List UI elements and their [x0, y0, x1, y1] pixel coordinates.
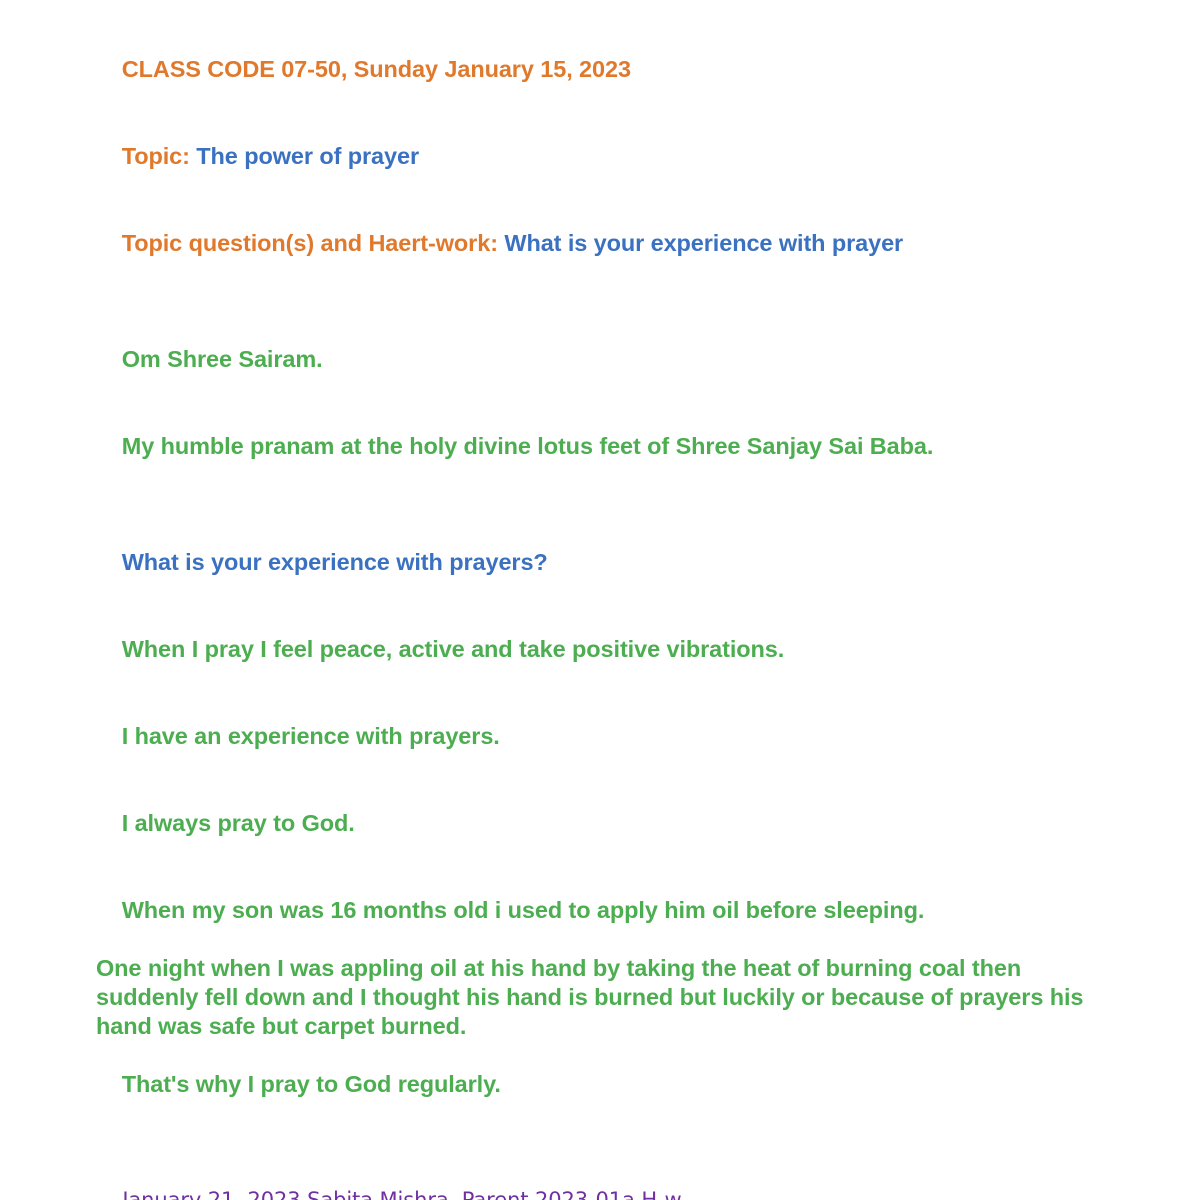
answer-text-6: That's why I pray to God regularly. — [122, 1071, 501, 1097]
topic-question-line: Topic question(s) and Haert-work: What i… — [96, 200, 1200, 287]
body-question-line: What is your experience with prayers? — [96, 519, 1200, 606]
spacer-before-signature — [96, 1128, 1200, 1157]
answer-text-2: I have an experience with prayers. — [122, 723, 500, 749]
spacer-after-salutation — [96, 490, 1200, 519]
answer-text-4: When my son was 16 months old i used to … — [122, 897, 925, 923]
salutation-line-2: My humble pranam at the holy divine lotu… — [96, 403, 1200, 490]
answer-line-5: One night when I was appling oil at his … — [96, 954, 1114, 1041]
topic-question-value: What is your experience with prayer — [504, 230, 903, 256]
topic-value: The power of prayer — [196, 143, 419, 169]
answer-text-1: When I pray I feel peace, active and tak… — [122, 636, 784, 662]
answer-line-6: That's why I pray to God regularly. — [96, 1041, 1200, 1128]
topic-question-label: Topic question(s) and Haert-work: — [122, 230, 505, 256]
spacer-after-header — [96, 287, 1200, 316]
answer-line-1: When I pray I feel peace, active and tak… — [96, 606, 1200, 693]
class-code-text: CLASS CODE 07-50, Sunday January 15, 202… — [122, 56, 631, 82]
class-code-line: CLASS CODE 07-50, Sunday January 15, 202… — [96, 26, 1200, 113]
salutation-line-1: Om Shree Sairam. — [96, 316, 1200, 403]
salutation-text-1: Om Shree Sairam. — [122, 346, 323, 372]
topic-label: Topic: — [122, 143, 197, 169]
answer-line-2: I have an experience with prayers. — [96, 693, 1200, 780]
signature-line: January 21, 2023 Sabita Mishra, Parent 2… — [96, 1157, 1200, 1200]
body-question-text: What is your experience with prayers? — [122, 549, 548, 575]
document-page: CLASS CODE 07-50, Sunday January 15, 202… — [0, 0, 1200, 600]
signature-text: January 21, 2023 Sabita Mishra, Parent 2… — [122, 1188, 681, 1200]
answer-text-3: I always pray to God. — [122, 810, 355, 836]
salutation-text-2: My humble pranam at the holy divine lotu… — [122, 433, 934, 459]
topic-line: Topic: The power of prayer — [96, 113, 1200, 200]
answer-line-3: I always pray to God. — [96, 780, 1200, 867]
answer-line-4: When my son was 16 months old i used to … — [96, 867, 1200, 954]
